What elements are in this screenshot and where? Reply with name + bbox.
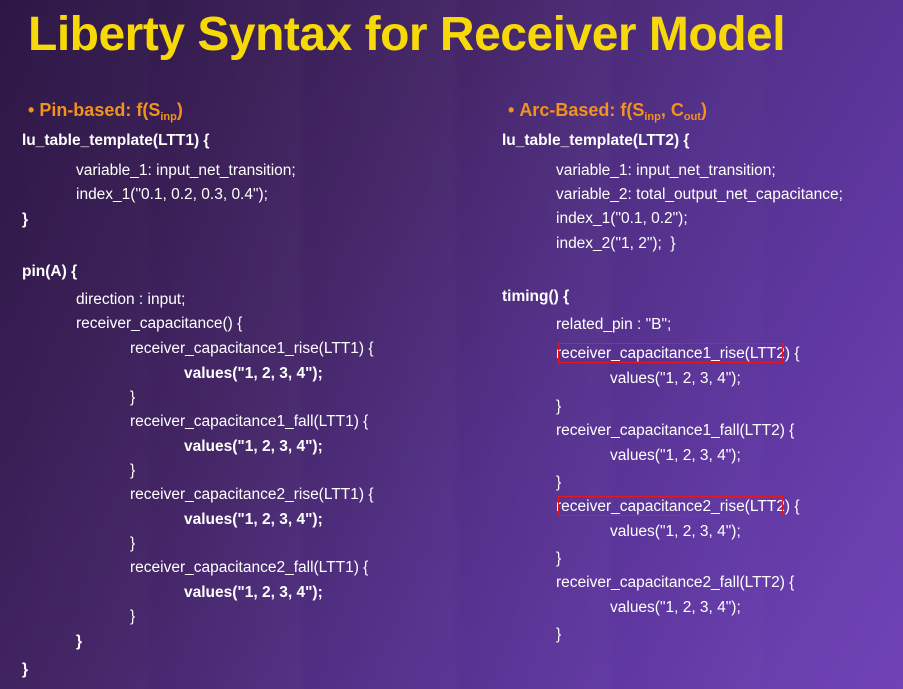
code-line: } bbox=[130, 607, 135, 627]
code-line: } bbox=[130, 388, 135, 408]
left-heading-text-after: ) bbox=[177, 100, 183, 120]
code-line: values("1, 2, 3, 4"); bbox=[184, 364, 323, 384]
code-line: values("1, 2, 3, 4"); bbox=[610, 522, 741, 542]
code-line: index_1("0.1, 0.2, 0.3, 0.4"); bbox=[76, 185, 268, 205]
code-line: lu_table_template(LTT1) { bbox=[22, 131, 209, 151]
code-line: receiver_capacitance2_fall(LTT2) { bbox=[556, 573, 794, 593]
right-heading-text-middle: , C bbox=[661, 100, 684, 120]
right-column-heading: •Arc-Based: f(Sinp, Cout) bbox=[508, 99, 707, 124]
code-line: } bbox=[130, 461, 135, 481]
bullet-dot-icon: • bbox=[508, 100, 514, 120]
code-line: } bbox=[22, 660, 28, 680]
code-line: receiver_capacitance2_fall(LTT1) { bbox=[130, 558, 368, 578]
right-heading-text-before: Arc-Based: f(S bbox=[519, 100, 644, 120]
bullet-dot-icon: • bbox=[28, 100, 34, 120]
code-line: receiver_capacitance2_rise(LTT2) { bbox=[556, 497, 800, 517]
code-line: values("1, 2, 3, 4"); bbox=[184, 510, 323, 530]
code-line: } bbox=[76, 632, 82, 652]
code-line: variable_1: input_net_transition; bbox=[556, 161, 776, 181]
right-heading-subscript-1: inp bbox=[644, 111, 661, 123]
code-line: index_1("0.1, 0.2"); bbox=[556, 209, 688, 229]
code-line: variable_2: total_output_net_capacitance… bbox=[556, 185, 843, 205]
code-line: direction : input; bbox=[76, 290, 185, 310]
code-line: receiver_capacitance() { bbox=[76, 314, 242, 334]
code-line: index_2("1, 2"); } bbox=[556, 234, 676, 254]
code-line: variable_1: input_net_transition; bbox=[76, 161, 296, 181]
code-line: receiver_capacitance2_rise(LTT1) { bbox=[130, 485, 374, 505]
code-line: values("1, 2, 3, 4"); bbox=[610, 446, 741, 466]
code-line: receiver_capacitance1_rise(LTT2) { bbox=[556, 344, 800, 364]
code-line: } bbox=[556, 549, 561, 569]
code-line: receiver_capacitance1_fall(LTT1) { bbox=[130, 412, 368, 432]
code-line: receiver_capacitance1_fall(LTT2) { bbox=[556, 421, 794, 441]
left-heading-text-before: Pin-based: f(S bbox=[39, 100, 160, 120]
code-line: pin(A) { bbox=[22, 262, 77, 282]
code-line: values("1, 2, 3, 4"); bbox=[184, 583, 323, 603]
code-line: timing() { bbox=[502, 287, 569, 307]
code-line: } bbox=[556, 473, 561, 493]
code-line: } bbox=[130, 534, 135, 554]
code-line: } bbox=[556, 625, 561, 645]
code-line: related_pin : "B"; bbox=[556, 315, 671, 335]
page-title: Liberty Syntax for Receiver Model bbox=[28, 4, 888, 66]
code-line: values("1, 2, 3, 4"); bbox=[610, 598, 741, 618]
code-line: lu_table_template(LTT2) { bbox=[502, 131, 689, 151]
code-line: } bbox=[22, 210, 28, 230]
code-line: values("1, 2, 3, 4"); bbox=[184, 437, 323, 457]
code-line: receiver_capacitance1_rise(LTT1) { bbox=[130, 339, 374, 359]
right-heading-text-after: ) bbox=[701, 100, 707, 120]
slide-canvas: Liberty Syntax for Receiver Model •Pin-b… bbox=[0, 0, 903, 689]
code-line: values("1, 2, 3, 4"); bbox=[610, 369, 741, 389]
code-line: } bbox=[556, 397, 561, 417]
right-heading-subscript-2: out bbox=[684, 111, 701, 123]
left-column-heading: •Pin-based: f(Sinp) bbox=[28, 99, 183, 124]
left-heading-subscript: inp bbox=[160, 111, 177, 123]
